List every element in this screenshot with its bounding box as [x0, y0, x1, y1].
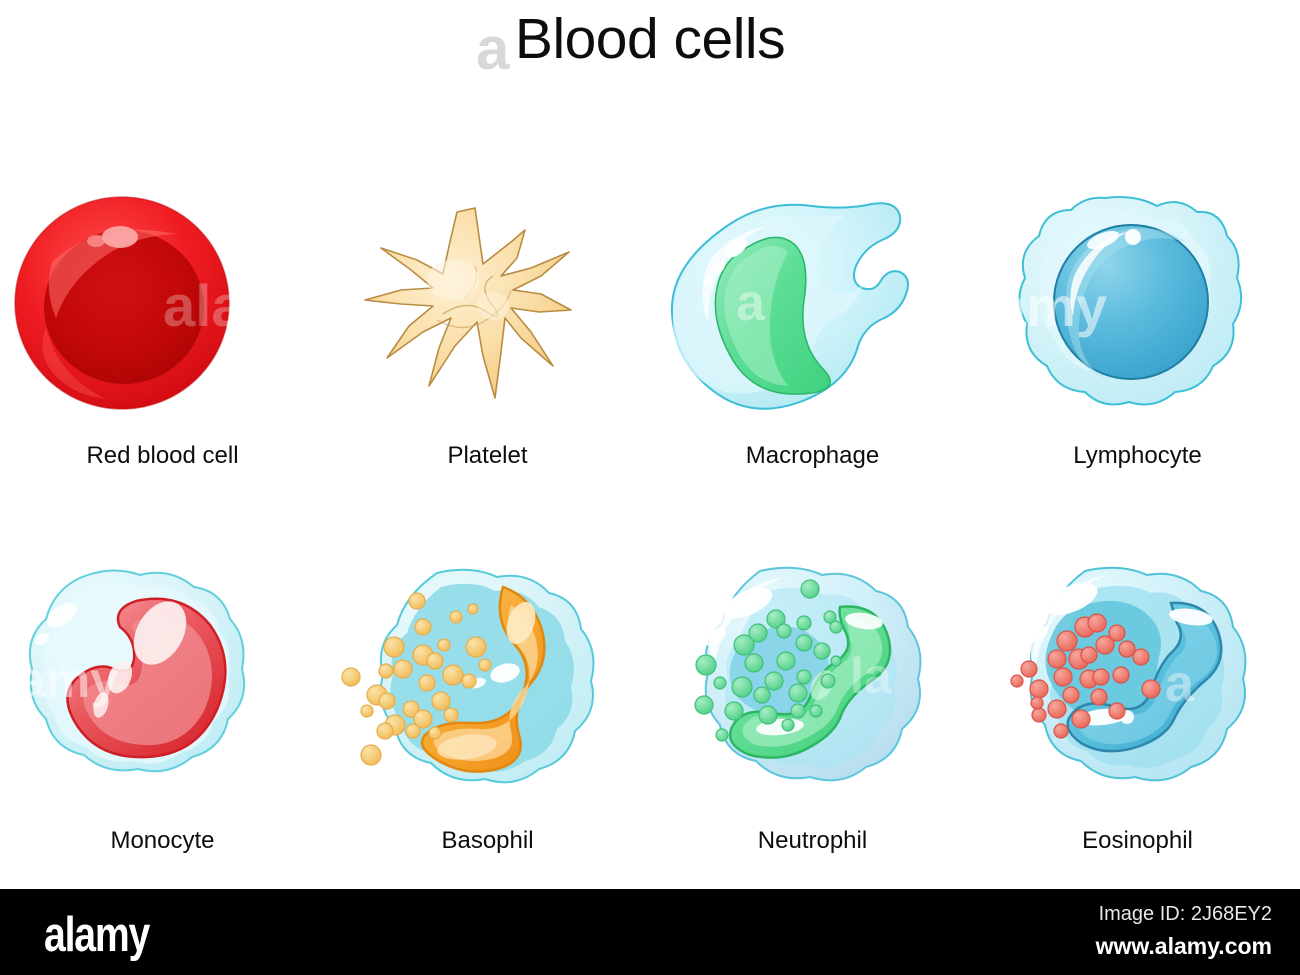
cell-label-basophil: Basophil — [325, 827, 650, 855]
cell-item-red-blood-cell: alam Red blood cell — [0, 190, 325, 490]
watermark-tile-title: a — [476, 14, 509, 83]
alamy-logo: alamy — [44, 907, 149, 963]
monocyte-illustration: lamy — [0, 565, 325, 815]
watermark-tile-monocyte: lamy — [4, 652, 118, 708]
cell-item-platelet: Platelet — [325, 190, 650, 490]
cell-item-monocyte: lamy Monocyte — [0, 565, 325, 865]
cell-item-lymphocyte: amy Lymphocyte — [975, 190, 1300, 490]
cell-item-basophil: Basophil — [325, 565, 650, 865]
cell-label-neutrophil: Neutrophil — [650, 827, 975, 855]
basophil-body — [342, 570, 593, 783]
cell-label-eosinophil: Eosinophil — [975, 827, 1300, 855]
image-id-text: Image ID: 2J68EY2 — [1099, 903, 1272, 926]
cell-label-monocyte: Monocyte — [0, 827, 325, 855]
red-blood-cell-illustration: alam — [0, 190, 325, 440]
cell-label-red-blood-cell: Red blood cell — [0, 442, 325, 470]
cell-label-macrophage: Macrophage — [650, 442, 975, 470]
eosinophil-body — [1010, 568, 1246, 781]
platelet-illustration — [325, 190, 650, 440]
lymphocyte-illustration: amy — [975, 190, 1300, 440]
cell-label-lymphocyte: Lymphocyte — [975, 442, 1300, 470]
macrophage-body — [672, 203, 908, 409]
neutrophil-illustration: la — [650, 565, 975, 815]
macrophage-illustration: a — [650, 190, 975, 440]
title-container: a Blood cells — [0, 0, 1300, 78]
watermark-tile-rbc: alam — [163, 274, 295, 339]
cell-item-macrophage: a Macrophage — [650, 190, 975, 490]
cell-item-neutrophil: la Neutrophil — [650, 565, 975, 865]
eosinophil-illustration: a — [975, 565, 1300, 815]
page-title: Blood cells — [515, 11, 785, 68]
alamy-url-text[interactable]: www.alamy.com — [1096, 933, 1272, 960]
watermark-tile-neutrophil: la — [850, 648, 893, 704]
cell-item-eosinophil: a Eosinophil — [975, 565, 1300, 865]
cell-label-platelet: Platelet — [325, 442, 650, 470]
watermark-tile-macrophage: a — [736, 274, 766, 332]
watermark-tile-lymphocyte: amy — [995, 275, 1107, 338]
platelet-body — [365, 208, 571, 398]
alamy-footer-bar: alamy Image ID: 2J68EY2 www.alamy.com — [0, 889, 1300, 975]
watermark-tile-eosinophil: a — [1165, 655, 1195, 713]
illustration-canvas: a Blood cells — [0, 0, 1300, 975]
basophil-illustration — [325, 565, 650, 815]
